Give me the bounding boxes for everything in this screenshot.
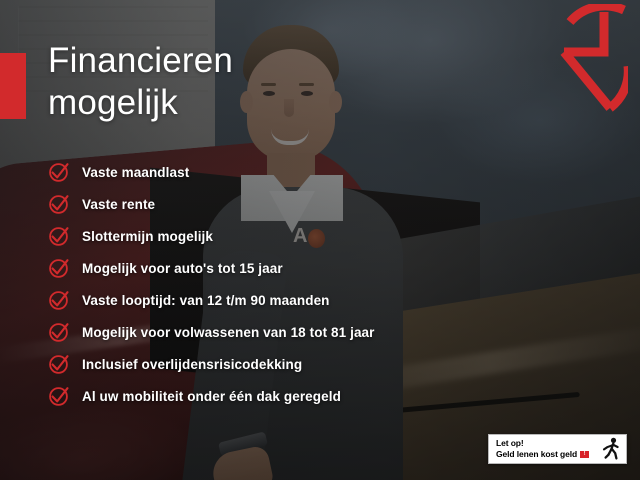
- list-item-label: Slottermijn mogelijk: [82, 229, 213, 244]
- list-item-label: Mogelijk voor volwassenen van 18 tot 81 …: [82, 325, 375, 340]
- walking-person-icon: [601, 437, 621, 461]
- list-item: Slottermijn mogelijk: [48, 220, 478, 252]
- list-item: Mogelijk voor volwassenen van 18 tot 81 …: [48, 316, 478, 348]
- check-circle-icon: [48, 321, 70, 343]
- list-item: Vaste looptijd: van 12 t/m 90 maanden: [48, 284, 478, 316]
- list-item: Vaste maandlast: [48, 156, 478, 188]
- check-circle-icon: [48, 161, 70, 183]
- check-circle-icon: [48, 257, 70, 279]
- rotate-arrow-logo-icon: [544, 4, 628, 124]
- warning-text: Let op! Geld lenen kost geld !: [496, 438, 601, 461]
- list-item: Al uw mobiliteit onder één dak geregeld: [48, 380, 478, 412]
- list-item: Vaste rente: [48, 188, 478, 220]
- list-item-label: Mogelijk voor auto's tot 15 jaar: [82, 261, 283, 276]
- check-circle-icon: [48, 385, 70, 407]
- banner-content: Financieren mogelijk Vaste maandlast: [0, 0, 640, 480]
- list-item-label: Vaste rente: [82, 197, 155, 212]
- list-item-label: Inclusief overlijdensrisicodekking: [82, 357, 302, 372]
- list-item: Mogelijk voor auto's tot 15 jaar: [48, 252, 478, 284]
- warning-line-2: Geld lenen kost geld: [496, 449, 577, 460]
- list-item: Inclusief overlijdensrisicodekking: [48, 348, 478, 380]
- warning-line-1: Let op!: [496, 438, 601, 449]
- check-circle-icon: [48, 193, 70, 215]
- list-item-label: Vaste maandlast: [82, 165, 189, 180]
- status-badge: Let op! Geld lenen kost geld !: [488, 434, 627, 464]
- list-item-label: Vaste looptijd: van 12 t/m 90 maanden: [82, 293, 330, 308]
- promo-banner: A Financieren mogelijk: [0, 0, 640, 480]
- accent-bar: [0, 53, 26, 119]
- warning-line-2-wrapper: Geld lenen kost geld !: [496, 449, 601, 460]
- warning-chip-icon: !: [580, 451, 589, 458]
- feature-list: Vaste maandlast Vaste rente: [48, 156, 478, 412]
- list-item-label: Al uw mobiliteit onder één dak geregeld: [82, 389, 341, 404]
- check-circle-icon: [48, 225, 70, 247]
- check-circle-icon: [48, 353, 70, 375]
- check-circle-icon: [48, 289, 70, 311]
- page-title: Financieren mogelijk: [48, 40, 378, 124]
